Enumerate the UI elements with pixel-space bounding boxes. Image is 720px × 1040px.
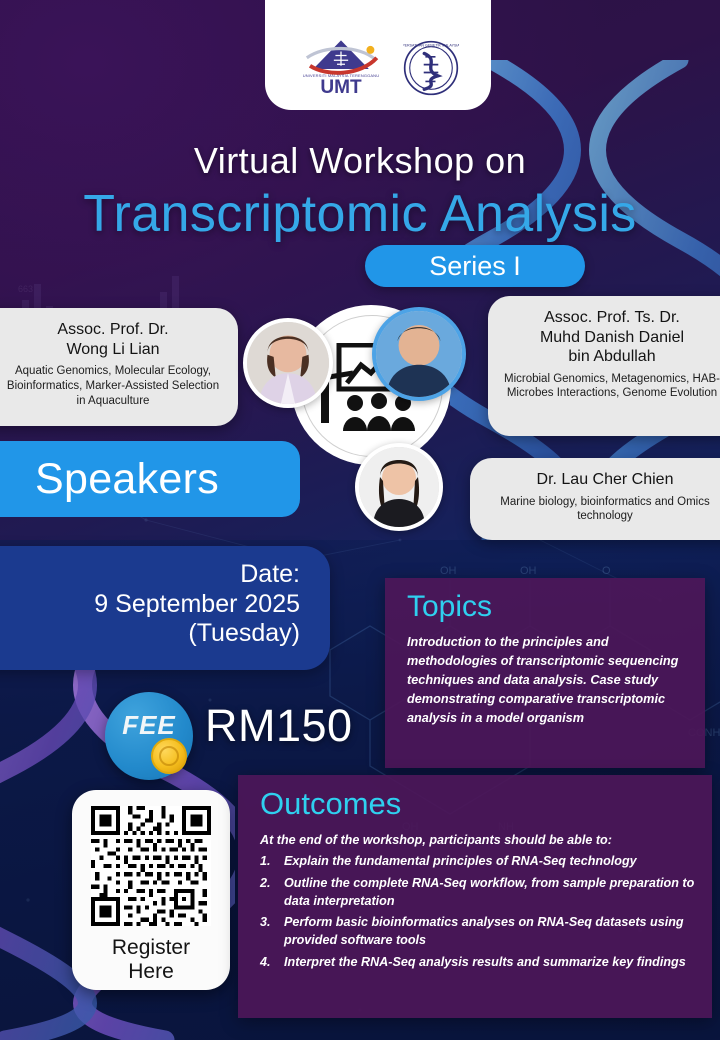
svg-text:663: 663 <box>18 284 33 294</box>
speaker-photo-wong <box>243 318 333 408</box>
title-block: Virtual Workshop on Transcriptomic Analy… <box>0 140 720 244</box>
speaker-photo-lau <box>355 443 443 531</box>
topics-panel: Topics Introduction to the principles an… <box>385 578 705 768</box>
pgm-logo: PERSATUAN GENETIK MALAYSIA <box>403 40 459 96</box>
coin-icon <box>151 738 187 774</box>
outcome-item: 3. Perform basic bioinformatics analyses… <box>260 913 696 950</box>
speaker-name-lau: Dr. Lau Cher Chien <box>486 470 720 490</box>
topics-body: Introduction to the principles and metho… <box>407 633 689 728</box>
fee-badge-label: FEE <box>105 710 193 741</box>
fee-amount: RM150 <box>205 700 353 752</box>
outcomes-panel: Outcomes At the end of the workshop, par… <box>238 775 712 1018</box>
series-badge: Series I <box>365 245 585 287</box>
svg-text:O: O <box>602 565 611 577</box>
fee-badge: FEE <box>105 692 193 780</box>
date-label: Date: <box>0 560 300 590</box>
outcomes-list: 1. Explain the fundamental principles of… <box>260 852 696 971</box>
outcome-item: 2. Outline the complete RNA-Seq workflow… <box>260 874 696 911</box>
speaker-photo-danish <box>372 307 466 401</box>
umt-logo-label: UMT <box>320 77 362 96</box>
register-qr-card[interactable]: Register Here <box>72 790 230 990</box>
pgm-logo-label: PERSATUAN GENETIK MALAYSIA <box>403 44 459 48</box>
umt-logo: UNIVERSITI MALAYSIA TERENGGANU UMT <box>297 34 385 96</box>
poster-root: OHOHO HOCONHOH NH <box>0 0 720 1040</box>
header-logo-panel: UNIVERSITI MALAYSIA TERENGGANU UMT PERSA… <box>265 0 491 110</box>
speaker-card-wong: Assoc. Prof. Dr. Wong Li Lian Aquatic Ge… <box>0 308 238 426</box>
date-value: 9 September 2025 <box>0 590 300 620</box>
outcomes-title: Outcomes <box>260 787 696 821</box>
workshop-subtitle: Virtual Workshop on <box>0 140 720 182</box>
register-label: Register Here <box>72 936 230 983</box>
speaker-name-wong: Assoc. Prof. Dr. Wong Li Lian <box>4 320 222 359</box>
speaker-specialty-wong: Aquatic Genomics, Molecular Ecology, Bio… <box>4 364 222 409</box>
date-panel: Date: 9 September 2025 (Tuesday) <box>0 546 330 670</box>
topics-title: Topics <box>407 590 689 623</box>
speaker-specialty-lau: Marine biology, bioinformatics and Omics… <box>486 495 720 525</box>
svg-text:OH: OH <box>440 565 457 577</box>
date-day: (Tuesday) <box>0 619 300 649</box>
series-badge-label: Series I <box>429 251 521 282</box>
speakers-band-label: Speakers <box>35 455 219 504</box>
outcomes-lead: At the end of the workshop, participants… <box>260 831 696 849</box>
speaker-card-lau: Dr. Lau Cher Chien Marine biology, bioin… <box>470 458 720 540</box>
workshop-title: Transcriptomic Analysis <box>0 184 720 244</box>
speakers-band: Speakers <box>0 441 300 517</box>
svg-text:OH: OH <box>520 565 537 577</box>
outcome-item: 4. Interpret the RNA-Seq analysis result… <box>260 953 696 971</box>
qr-code-icon[interactable] <box>91 806 211 926</box>
speaker-name-danish: Assoc. Prof. Ts. Dr. Muhd Danish Daniel … <box>504 308 720 367</box>
speaker-card-danish: Assoc. Prof. Ts. Dr. Muhd Danish Daniel … <box>488 296 720 436</box>
outcome-item: 1. Explain the fundamental principles of… <box>260 852 696 870</box>
speaker-specialty-danish: Microbial Genomics, Metagenomics, HAB-Mi… <box>504 372 720 402</box>
